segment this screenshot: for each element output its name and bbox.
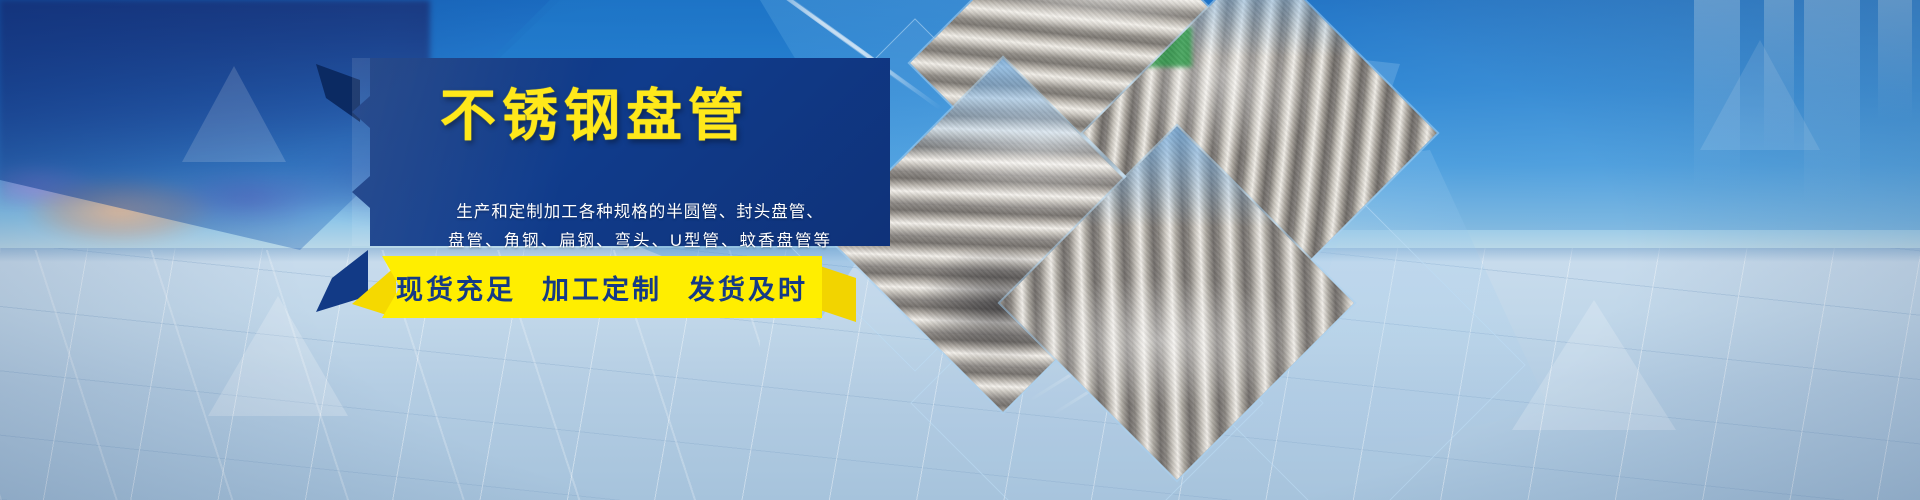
slogan-ribbon: 现货充足 加工定制 发货及时: [352, 256, 822, 318]
product-hero-banner: 不锈钢盘管 生产和定制加工各种规格的半圆管、封头盘管、 盘管、角钢、扁钢、弯头、…: [0, 0, 1920, 500]
decor-triangle: [208, 296, 348, 416]
slogan-item-3: 发货及时: [688, 268, 808, 307]
tower-silhouette: [1878, 0, 1912, 120]
subtitle-line-1: 生产和定制加工各种规格的半圆管、封头盘管、: [400, 198, 880, 227]
slogan-item-1: 现货充足: [396, 268, 516, 307]
slogan-item-2: 加工定制: [542, 268, 662, 307]
slogan-text-group: 现货充足 加工定制 发货及时: [382, 256, 822, 318]
product-photo-collage: [830, 0, 1490, 500]
page-title: 不锈钢盘管: [440, 88, 900, 144]
decor-triangle: [1512, 300, 1676, 430]
subtitle-line-2: 盘管、角钢、扁钢、弯头、U型管、蚊香盘管等: [400, 227, 880, 256]
decor-triangle: [1700, 40, 1820, 150]
subtitle-block: 生产和定制加工各种规格的半圆管、封头盘管、 盘管、角钢、扁钢、弯头、U型管、蚊香…: [400, 198, 880, 256]
decor-triangle: [182, 66, 286, 162]
